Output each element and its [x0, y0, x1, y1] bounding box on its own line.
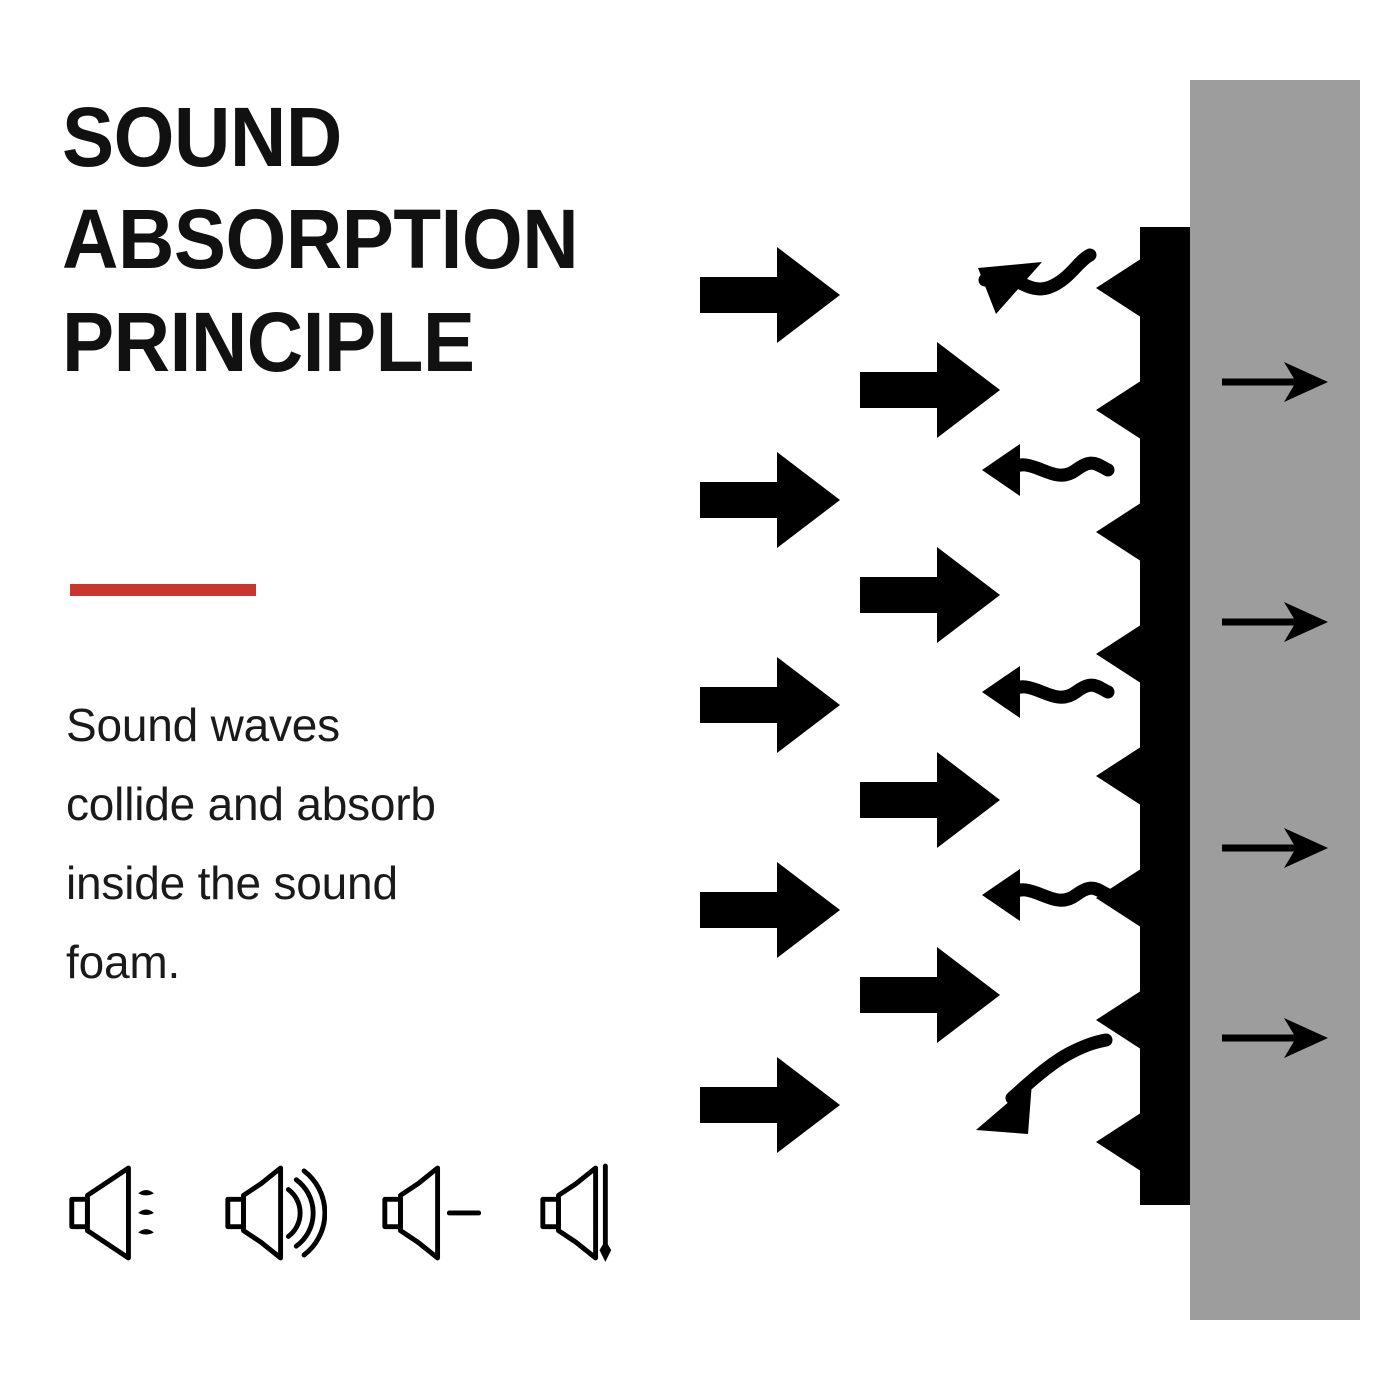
accent-divider: [70, 584, 256, 596]
page-title: SOUND ABSORPTION PRINCIPLE: [62, 86, 657, 393]
incoming-arrow: [700, 657, 840, 753]
speaker-waves-icon: [220, 1157, 328, 1267]
needle-tip-icon: [599, 1240, 611, 1262]
incoming-arrow-group-mid: [860, 342, 1000, 1043]
incoming-arrow-group-left: [700, 247, 840, 1153]
incoming-arrow: [700, 452, 840, 548]
speaker-line-icon: [377, 1157, 485, 1267]
speaker-dashes-icon: [62, 1157, 170, 1267]
reflected-wave-arrow: [976, 1040, 1106, 1134]
reflected-wave-arrow: [982, 444, 1108, 496]
reflected-wave-arrow: [982, 869, 1108, 921]
incoming-arrow: [700, 862, 840, 958]
incoming-arrow: [860, 947, 1000, 1043]
incoming-arrow: [860, 342, 1000, 438]
wall-panel: [1190, 80, 1360, 1320]
arrowhead-icon: [982, 666, 1020, 718]
incoming-arrow: [860, 752, 1000, 848]
speaker-icon-row: [62, 1152, 642, 1272]
body-text: Sound waves collide and absorb inside th…: [66, 686, 466, 1002]
incoming-arrow: [700, 247, 840, 343]
arrowhead-icon: [982, 444, 1020, 496]
incoming-arrow: [700, 1057, 840, 1153]
incoming-arrow: [860, 547, 1000, 643]
speaker-needle-icon: [535, 1157, 643, 1267]
reflected-wave-arrow: [982, 666, 1108, 718]
reflected-wave-arrow: [978, 255, 1090, 314]
arrowhead-icon: [976, 1082, 1032, 1134]
sound-absorption-diagram: [660, 0, 1400, 1400]
arrowhead-icon: [982, 869, 1020, 921]
infographic-canvas: SOUND ABSORPTION PRINCIPLE Sound waves c…: [0, 0, 1400, 1400]
